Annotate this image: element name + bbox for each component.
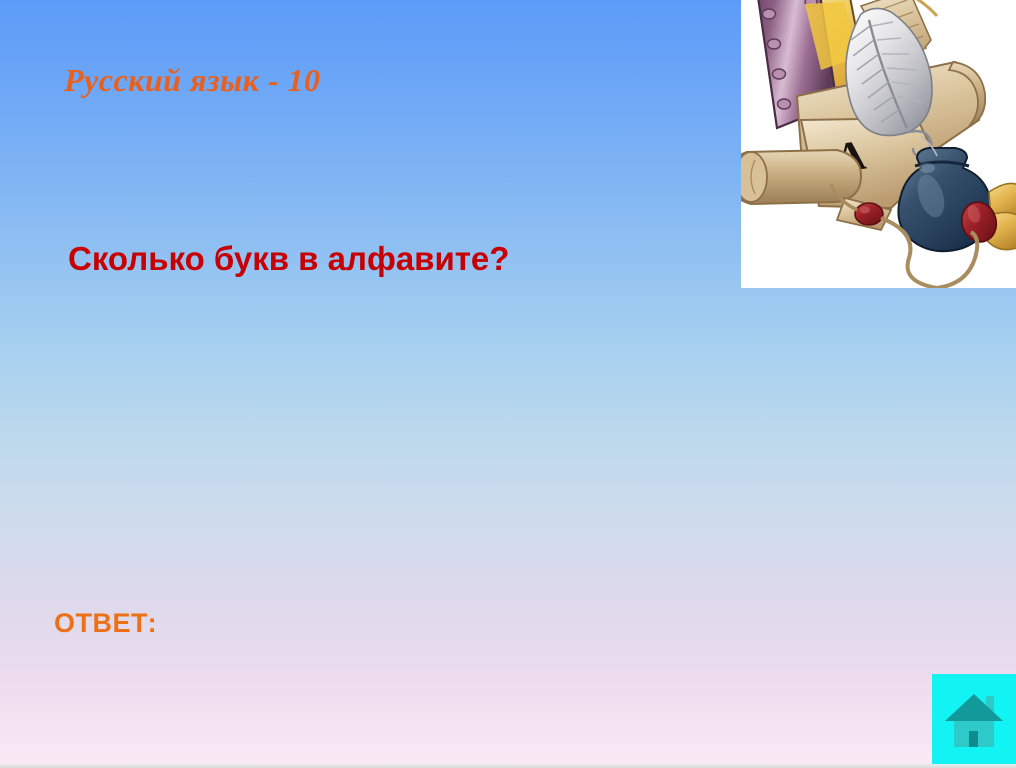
bottom-edge-strip bbox=[0, 764, 1016, 768]
answer-label: ОТВЕТ: bbox=[54, 608, 157, 639]
question-text: Сколько букв в алфавите? bbox=[68, 240, 509, 278]
page-title: Русский язык - 10 bbox=[64, 62, 321, 99]
home-icon bbox=[943, 691, 1005, 749]
slide-canvas: Русский язык - 10 Сколько букв в алфавит… bbox=[0, 0, 1016, 768]
home-button[interactable] bbox=[932, 674, 1016, 765]
quill-scroll-inkwell-icon: А bbox=[741, 0, 1016, 288]
clipart-panel: А bbox=[741, 0, 1016, 288]
